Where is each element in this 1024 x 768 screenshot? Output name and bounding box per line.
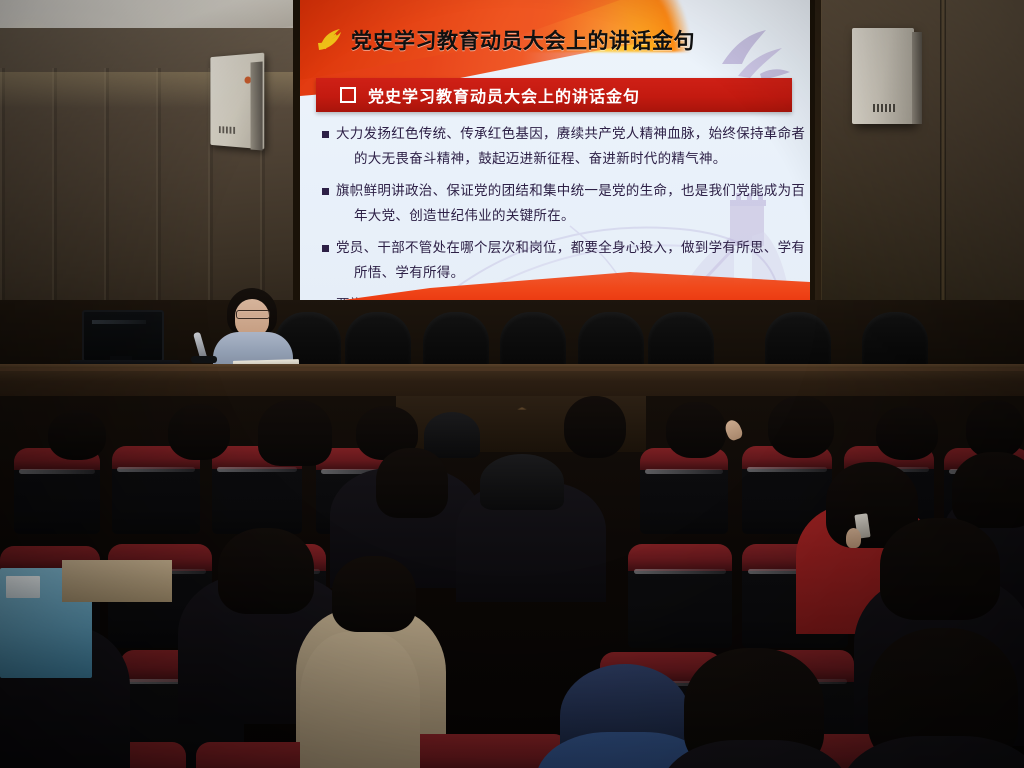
left-speaker-side <box>251 62 263 151</box>
cardboard-carton <box>62 560 172 602</box>
bullet-line: 大力发扬红色传统、传承红色基因，赓续共产党人精神血脉，始终保持革命者 <box>318 122 798 147</box>
audience-shoulders <box>300 632 420 768</box>
bullet-line: 党员、干部不管处在哪个层次和岗位，都要全身心投入，做到学有所思、学有 <box>318 236 798 261</box>
glasses-icon <box>236 310 270 319</box>
audience-head <box>952 452 1024 528</box>
bullet-line: 旗帜鲜明讲政治、保证党的团结和集中统一是党的生命，也是我们党能成为百 <box>318 179 798 204</box>
right-speaker-side <box>912 32 922 124</box>
seated-presenter-icon <box>205 288 301 372</box>
slide-subtitle: 党史学习教育动员大会上的讲话金句 <box>368 83 640 107</box>
microphone-base <box>191 356 217 363</box>
list-item: 旗帜鲜明讲政治、保证党的团结和集中统一是党的生命，也是我们党能成为百 年大党、创… <box>318 179 798 229</box>
audience-head <box>480 454 564 510</box>
audience-head <box>168 404 230 460</box>
audience-head <box>876 406 938 460</box>
auditorium-photo: 党史学习教育动员大会上的讲话金句 党史学习教育动员大会上的讲话金句 大力发扬红色… <box>0 0 1024 768</box>
square-bullet-icon <box>322 245 329 252</box>
audience-hand <box>846 528 861 548</box>
bullet-line: 的大无畏奋斗精神，鼓起迈进新征程、奋进新时代的精气神。 <box>318 147 798 172</box>
audience-seat <box>628 544 732 648</box>
presentation-slide: 党史学习教育动员大会上的讲话金句 党史学习教育动员大会上的讲话金句 大力发扬红色… <box>300 0 810 312</box>
square-bullet-icon <box>322 188 329 195</box>
audience-head <box>564 396 626 458</box>
audience-head <box>666 402 726 458</box>
audience-area <box>0 396 1024 768</box>
stage-chair <box>578 312 644 370</box>
stage-chair <box>500 312 566 370</box>
audience-head <box>48 410 106 460</box>
square-bullet-icon <box>322 131 329 138</box>
audience-head <box>880 518 1000 620</box>
slide-title-bar: 党史学习教育动员大会上的讲话金句 <box>300 20 810 60</box>
list-item: 大力发扬红色传统、传承红色基因，赓续共产党人精神血脉，始终保持革命者 的大无畏奋… <box>318 122 798 172</box>
slide-subtitle-bar: 党史学习教育动员大会上的讲话金句 <box>316 78 792 112</box>
audience-head <box>424 412 480 458</box>
case-label <box>6 576 40 598</box>
party-emblem-icon <box>316 27 344 53</box>
audience-head <box>258 400 332 466</box>
computer-monitor-icon <box>82 310 164 362</box>
square-bullet-icon <box>340 87 356 103</box>
stage-chair <box>765 312 831 370</box>
slide-title: 党史学习教育动员大会上的讲话金句 <box>351 25 695 55</box>
audience-head <box>218 528 314 614</box>
audience-seat <box>14 448 100 534</box>
audience-head <box>332 556 416 632</box>
audience-head <box>376 448 448 518</box>
audience-head <box>966 400 1024 458</box>
audience-seat <box>640 448 728 534</box>
raised-hand <box>723 418 744 442</box>
wall-speaker-icon <box>852 28 914 124</box>
stage-chair <box>648 312 714 370</box>
monitor-glare <box>92 320 146 324</box>
stage-chair <box>862 312 928 370</box>
bullet-line: 年大党、创造世纪伟业的关键所在。 <box>318 204 798 229</box>
audience-head <box>768 396 834 458</box>
stage-chair <box>423 312 489 370</box>
stage-chair <box>345 312 411 370</box>
